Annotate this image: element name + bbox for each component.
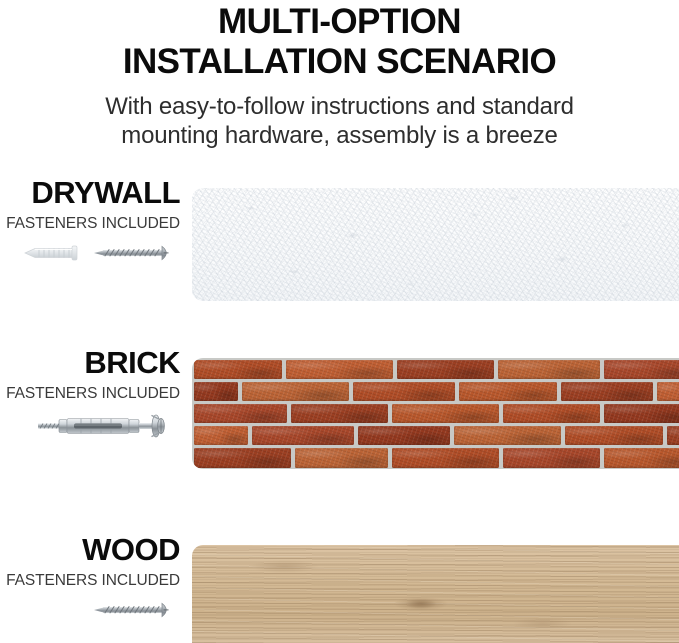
brick-row [192, 425, 679, 447]
brick-unit [295, 448, 388, 467]
brick-unit [194, 360, 282, 379]
wood-label-block: WOOD FASTENERS INCLUDED [0, 533, 182, 620]
brick-unit [565, 426, 662, 445]
fasteners-note-brick: FASTENERS INCLUDED [0, 384, 180, 403]
material-row-wood: WOOD FASTENERS INCLUDED [0, 533, 679, 643]
brick-unit [242, 382, 349, 401]
material-row-drywall: DRYWALL FASTENERS INCLUDED [0, 176, 679, 326]
material-name-wood: WOOD [0, 533, 180, 567]
brick-unit [561, 382, 654, 401]
headline-line-2: INSTALLATION SCENARIO [0, 42, 679, 82]
material-name-brick: BRICK [0, 346, 180, 380]
brick-unit [503, 448, 600, 467]
brick-unit [194, 404, 287, 423]
brick-row [192, 447, 679, 469]
material-name-drywall: DRYWALL [0, 176, 180, 210]
brick-unit [454, 426, 561, 445]
material-row-brick: BRICK FASTENERS INCLUDED [0, 346, 679, 496]
brick-unit [604, 448, 679, 467]
page-title: MULTI-OPTION INSTALLATION SCENARIO [0, 0, 679, 82]
brick-unit [286, 360, 393, 379]
drywall-texture-panel [192, 188, 679, 301]
brick-bond-pattern [192, 358, 679, 469]
wood-texture-panel [192, 545, 679, 643]
installation-scenario-infographic: MULTI-OPTION INSTALLATION SCENARIO With … [0, 0, 679, 643]
brick-unit [194, 382, 238, 401]
wood-screw-icon [92, 600, 176, 620]
brick-texture-panel [192, 358, 679, 469]
header-block: MULTI-OPTION INSTALLATION SCENARIO With … [0, 0, 679, 150]
brick-unit [503, 404, 600, 423]
brick-unit [194, 426, 248, 445]
brick-unit [358, 426, 451, 445]
drywall-label-block: DRYWALL FASTENERS INCLUDED [0, 176, 182, 263]
brick-unit [459, 382, 556, 401]
wood-hardware-group [0, 600, 180, 620]
brick-unit [498, 360, 600, 379]
brick-hardware-group [0, 413, 180, 439]
brick-unit [667, 426, 679, 445]
brick-unit [291, 404, 388, 423]
brick-unit [353, 382, 455, 401]
drywall-hardware-group [0, 243, 180, 263]
brick-unit [397, 360, 494, 379]
brick-unit [657, 382, 679, 401]
headline-line-1: MULTI-OPTION [0, 2, 679, 42]
fasteners-note-wood: FASTENERS INCLUDED [0, 571, 180, 590]
brick-label-block: BRICK FASTENERS INCLUDED [0, 346, 182, 439]
wall-anchor-icon [22, 243, 84, 263]
brick-row [192, 402, 679, 424]
brick-unit [392, 448, 499, 467]
page-subtitle: With easy-to-follow instructions and sta… [0, 92, 679, 150]
brick-unit [252, 426, 354, 445]
brick-unit [604, 360, 679, 379]
sleeve-anchor-bolt-icon [36, 413, 176, 439]
brick-row [192, 358, 679, 380]
subtitle-line-1: With easy-to-follow instructions and sta… [0, 92, 679, 121]
brick-unit [604, 404, 679, 423]
fasteners-note-drywall: FASTENERS INCLUDED [0, 214, 180, 233]
brick-unit [194, 448, 291, 467]
brick-row [192, 380, 679, 402]
screw-icon [92, 243, 176, 263]
subtitle-line-2: mounting hardware, assembly is a breeze [0, 121, 679, 150]
brick-unit [392, 404, 499, 423]
